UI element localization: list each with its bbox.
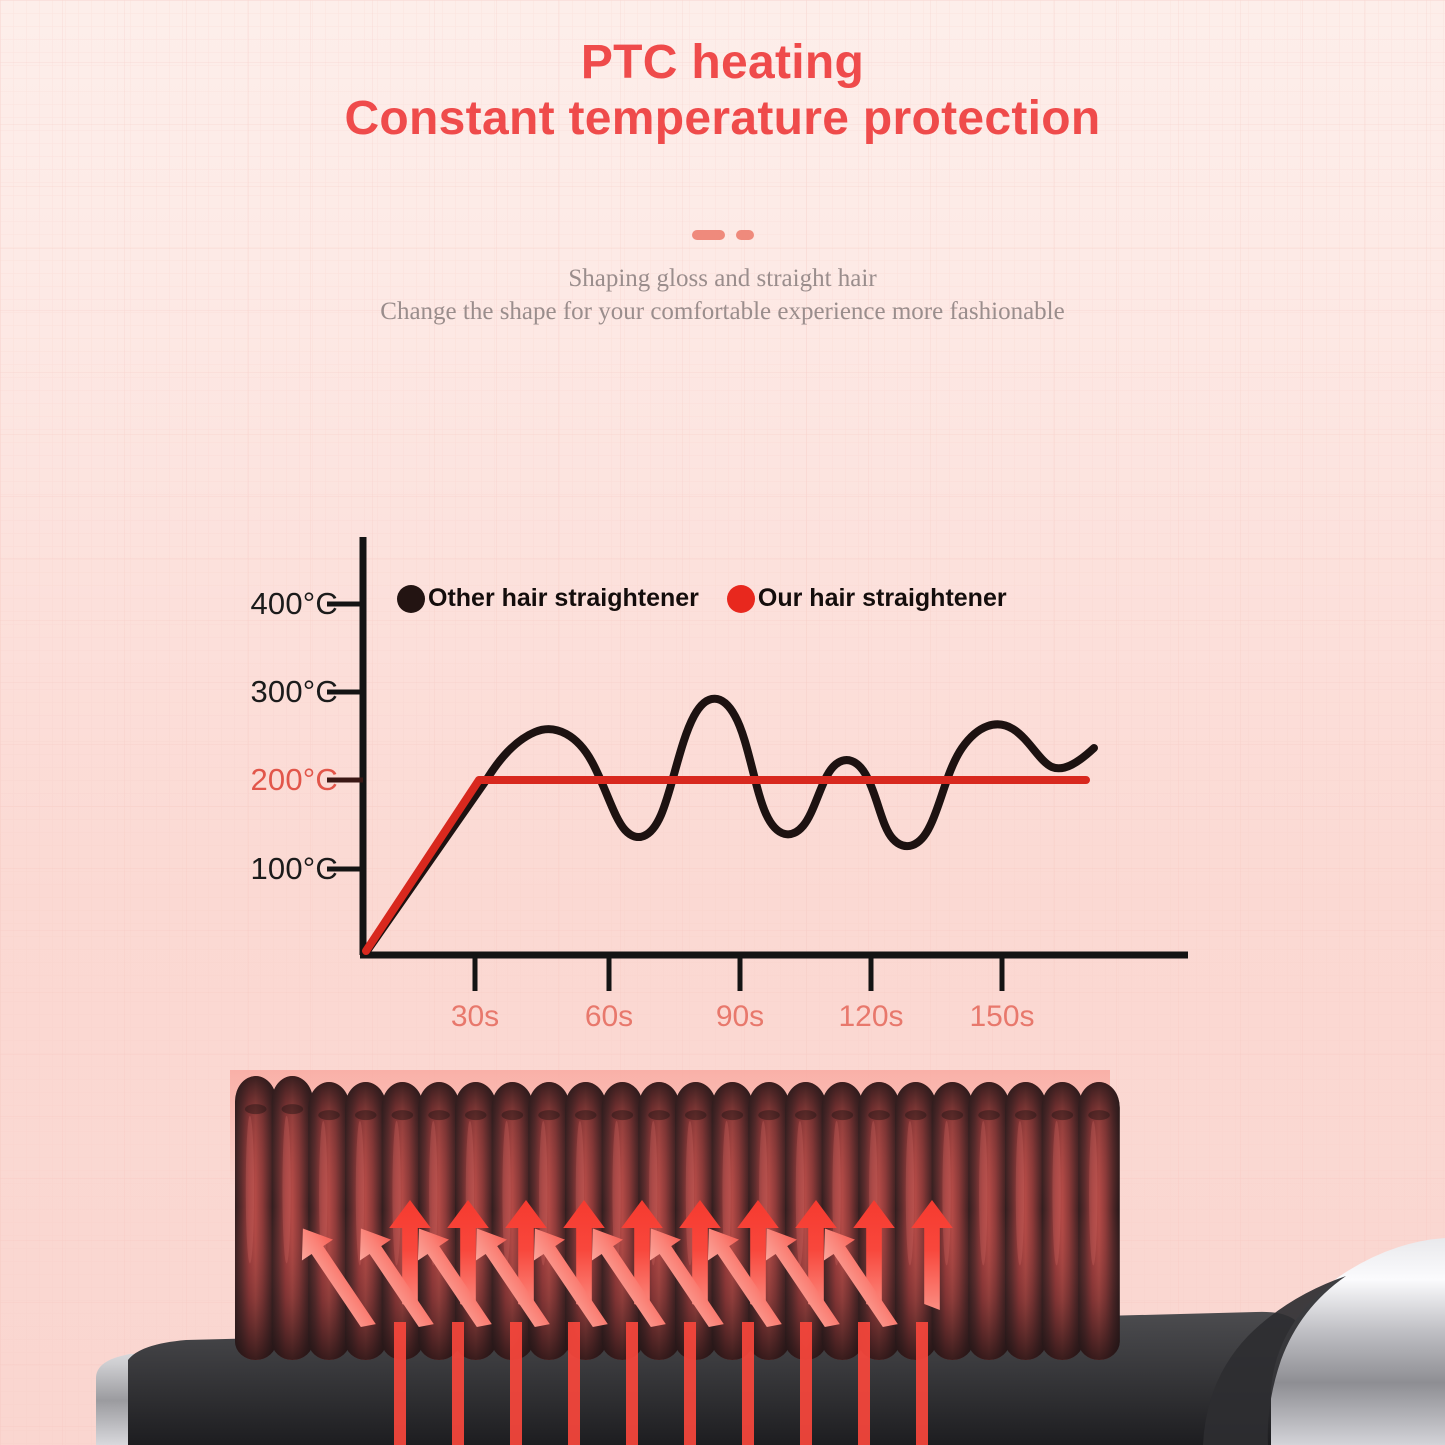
infographic-stage: PTC heating Constant temperature protect… [0,0,1445,1445]
series-our-hair-straightener [366,780,1086,951]
chart-legend: Other hair straightener Our hair straigh… [397,584,1007,613]
legend-label-other: Other hair straightener [428,584,699,613]
y-axis-label-100: 100°C [218,851,338,887]
y-axis-label-200: 200°C [218,762,338,798]
temperature-chart: 400°C 300°C 200°C 100°C 30s 60s 90s 120s… [0,0,1445,1080]
x-axis-label-120s: 120s [816,1000,926,1034]
x-axis-label-60s: 60s [554,1000,664,1034]
series-other-hair-straightener [367,699,1094,951]
y-axis-label-400: 400°C [218,586,338,622]
legend-item-ours: Our hair straightener [727,584,1007,613]
legend-item-other: Other hair straightener [397,584,699,613]
y-axis-label-300: 300°C [218,674,338,710]
product-illustration [0,1060,1445,1445]
legend-dot-black-icon [397,585,425,613]
legend-label-ours: Our hair straightener [758,584,1007,613]
x-axis-label-30s: 30s [420,1000,530,1034]
product-svg [0,1060,1445,1445]
legend-dot-red-icon [727,585,755,613]
x-axis-label-150s: 150s [947,1000,1057,1034]
chart-svg [0,0,1445,1080]
x-axis-label-90s: 90s [685,1000,795,1034]
